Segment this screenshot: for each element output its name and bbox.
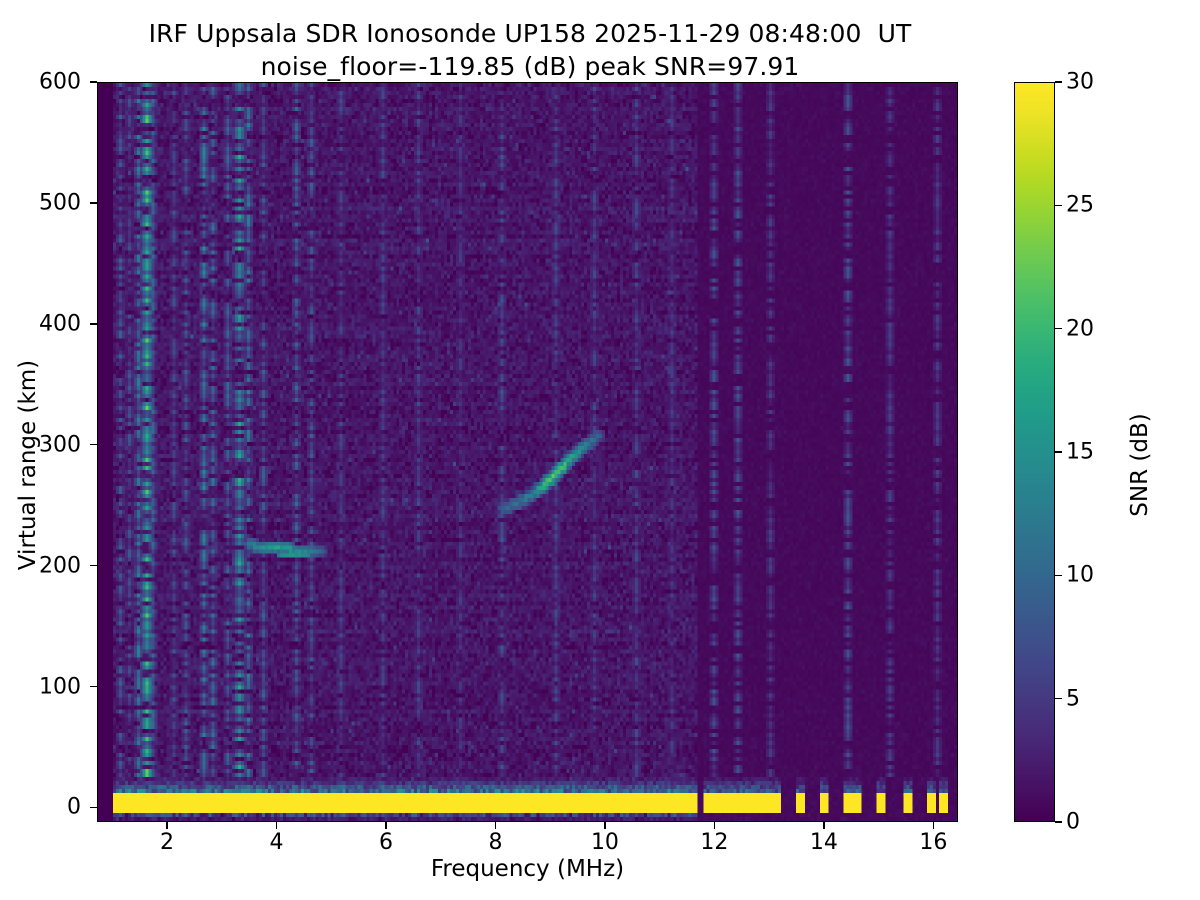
colorbar-tick-label: 20 — [1066, 316, 1094, 341]
y-tick-mark — [90, 807, 97, 808]
colorbar[interactable] — [1014, 82, 1055, 822]
y-axis-label: Virtual range (km) — [15, 225, 41, 705]
x-axis-label: Frequency (MHz) — [97, 856, 958, 882]
y-tick-mark — [90, 81, 97, 82]
y-tick-mark — [90, 444, 97, 445]
colorbar-tick-label: 30 — [1066, 70, 1094, 95]
x-tick-mark — [166, 822, 167, 829]
y-tick-label: 600 — [3, 70, 81, 95]
x-tick-mark — [933, 822, 934, 829]
x-tick-mark — [495, 822, 496, 829]
colorbar-gradient — [1015, 83, 1054, 821]
colorbar-tick-label: 5 — [1066, 686, 1080, 711]
x-tick-label: 4 — [247, 830, 307, 855]
x-tick-label: 8 — [465, 830, 525, 855]
x-tick-label: 16 — [903, 830, 963, 855]
x-tick-mark — [604, 822, 605, 829]
colorbar-tick-mark — [1055, 575, 1062, 576]
colorbar-tick-mark — [1055, 821, 1062, 822]
x-tick-mark — [276, 822, 277, 829]
y-tick-label: 0 — [3, 795, 81, 820]
figure-title: IRF Uppsala SDR Ionosonde UP158 2025-11-… — [0, 18, 1060, 83]
y-tick-mark — [90, 323, 97, 324]
colorbar-label: SNR (dB) — [1127, 255, 1153, 675]
y-tick-mark — [90, 202, 97, 203]
x-tick-label: 2 — [137, 830, 197, 855]
colorbar-tick-label: 15 — [1066, 440, 1094, 465]
x-tick-label: 14 — [794, 830, 854, 855]
colorbar-tick-label: 0 — [1066, 810, 1080, 835]
title-line-2: noise_floor=-119.85 (dB) peak SNR=97.91 — [0, 51, 1060, 84]
colorbar-tick-mark — [1055, 328, 1062, 329]
title-line-1: IRF Uppsala SDR Ionosonde UP158 2025-11-… — [0, 18, 1060, 51]
colorbar-tick-label: 10 — [1066, 563, 1094, 588]
colorbar-tick-label: 25 — [1066, 193, 1094, 218]
colorbar-tick-mark — [1055, 205, 1062, 206]
x-tick-mark — [823, 822, 824, 829]
x-tick-label: 6 — [356, 830, 416, 855]
colorbar-tick-mark — [1055, 451, 1062, 452]
y-tick-mark — [90, 686, 97, 687]
x-tick-mark — [385, 822, 386, 829]
x-tick-label: 12 — [684, 830, 744, 855]
ionogram-plot-area[interactable] — [97, 82, 958, 822]
ionogram-heatmap[interactable] — [98, 83, 957, 821]
y-tick-label: 500 — [3, 190, 81, 215]
x-tick-mark — [714, 822, 715, 829]
colorbar-tick-mark — [1055, 698, 1062, 699]
x-tick-label: 10 — [575, 830, 635, 855]
colorbar-tick-mark — [1055, 81, 1062, 82]
y-tick-mark — [90, 565, 97, 566]
ionogram-figure: IRF Uppsala SDR Ionosonde UP158 2025-11-… — [0, 0, 1200, 900]
